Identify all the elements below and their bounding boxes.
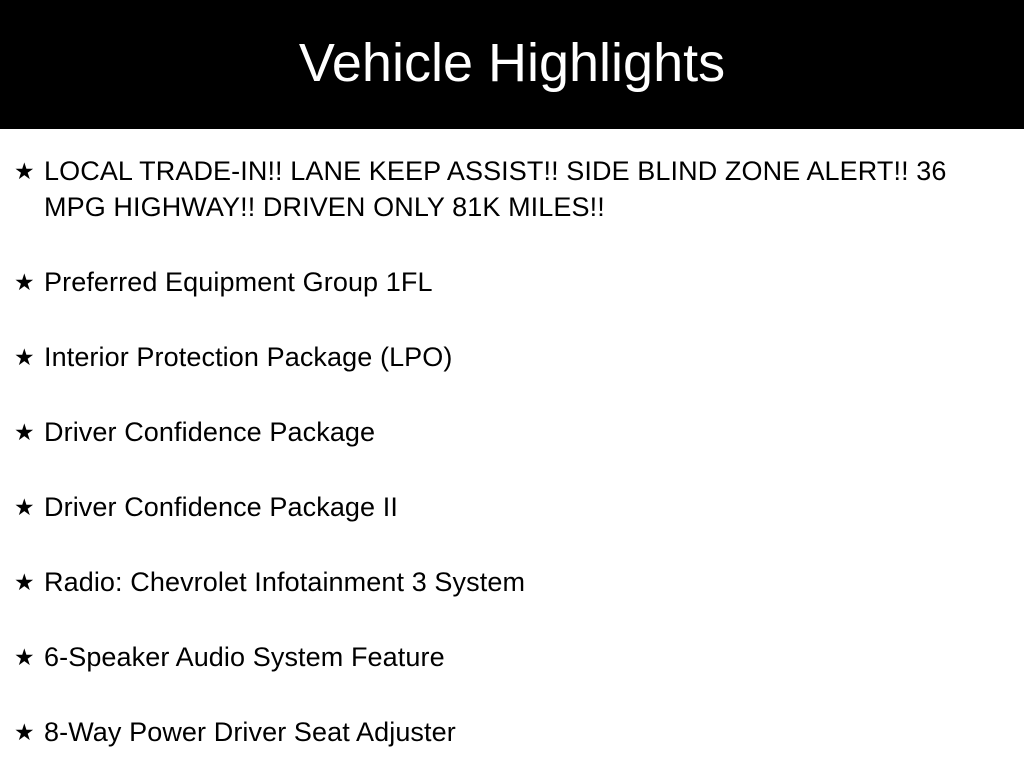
- star-bullet-icon: ★: [14, 639, 44, 675]
- list-item: ★ 6-Speaker Audio System Feature: [0, 639, 1024, 675]
- header-bar: Vehicle Highlights: [0, 0, 1024, 129]
- list-item: ★ Driver Confidence Package: [0, 414, 1024, 450]
- page-title: Vehicle Highlights: [299, 36, 725, 90]
- star-bullet-icon: ★: [14, 153, 44, 189]
- star-bullet-icon: ★: [14, 339, 44, 375]
- highlight-text: Driver Confidence Package II: [44, 489, 1010, 525]
- highlight-text: Driver Confidence Package: [44, 414, 1010, 450]
- vehicle-highlights-page: Vehicle Highlights ★ LOCAL TRADE-IN!! LA…: [0, 0, 1024, 768]
- star-bullet-icon: ★: [14, 564, 44, 600]
- highlight-text: Interior Protection Package (LPO): [44, 339, 1010, 375]
- star-bullet-icon: ★: [14, 264, 44, 300]
- highlight-text: Preferred Equipment Group 1FL: [44, 264, 1010, 300]
- highlight-text: 6-Speaker Audio System Feature: [44, 639, 1010, 675]
- list-item: ★ Radio: Chevrolet Infotainment 3 System: [0, 564, 1024, 600]
- highlight-text: 8-Way Power Driver Seat Adjuster: [44, 714, 1010, 750]
- highlight-text: Radio: Chevrolet Infotainment 3 System: [44, 564, 1010, 600]
- list-item: ★ Driver Confidence Package II: [0, 489, 1024, 525]
- list-item: ★ Preferred Equipment Group 1FL: [0, 264, 1024, 300]
- list-item: ★ 8-Way Power Driver Seat Adjuster: [0, 714, 1024, 750]
- list-item: ★ LOCAL TRADE-IN!! LANE KEEP ASSIST!! SI…: [0, 153, 1024, 225]
- star-bullet-icon: ★: [14, 714, 44, 750]
- star-bullet-icon: ★: [14, 414, 44, 450]
- list-item: ★ Interior Protection Package (LPO): [0, 339, 1024, 375]
- highlight-text: LOCAL TRADE-IN!! LANE KEEP ASSIST!! SIDE…: [44, 153, 1010, 225]
- star-bullet-icon: ★: [14, 489, 44, 525]
